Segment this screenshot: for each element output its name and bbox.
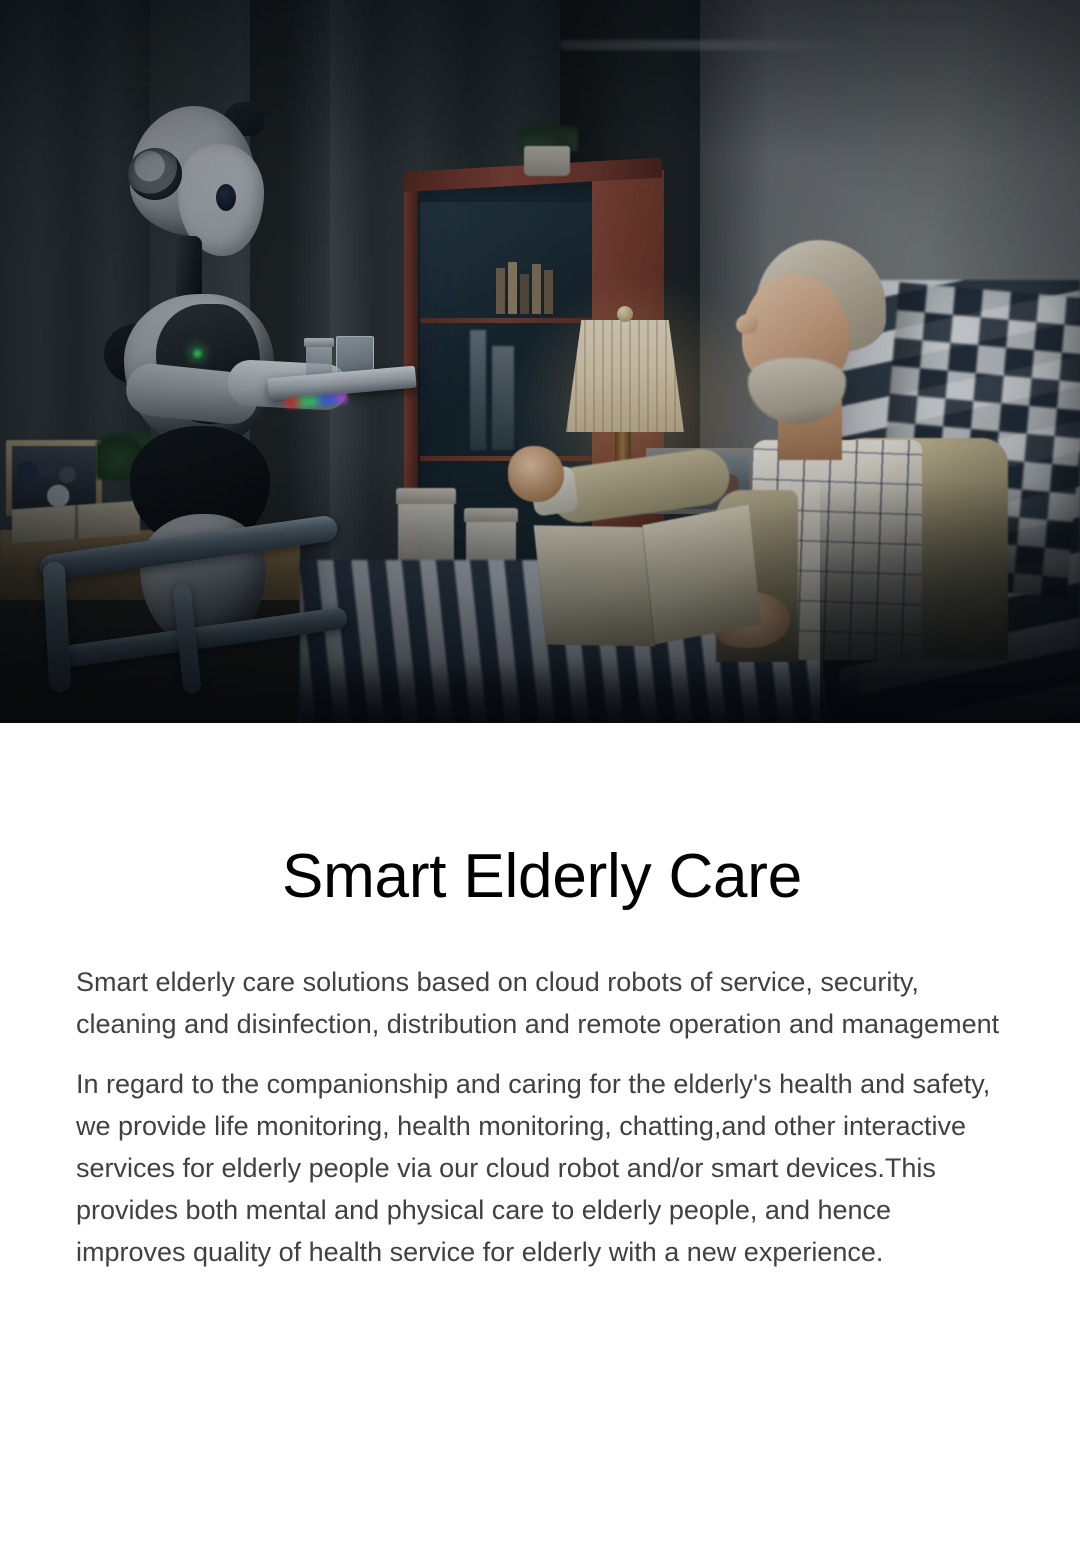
hero-image [0,0,1080,723]
page-title: Smart Elderly Care [76,843,1008,911]
shelf-bottle [492,346,514,450]
book-page-left [534,525,655,646]
shelf-books [496,258,553,314]
book-held-by-man [534,509,765,651]
robot-camera-module [128,148,182,200]
content-section: Smart Elderly Care Smart elderly care so… [0,723,1080,1273]
rail-mid-bar [48,606,348,670]
lamp-shade [566,320,684,432]
bed-safety-rail [40,556,350,723]
man-nose [736,314,758,334]
robot-eye [216,184,236,211]
man-reaching-hand [508,446,564,502]
blanket-shadow [300,660,860,723]
description-paragraph-2: In regard to the companionship and carin… [76,1063,1008,1273]
book-text-lines [122,27,202,98]
hero-scene [0,0,1080,723]
robot-status-led [192,348,203,359]
shelf-divider [420,318,592,323]
ceramic-jar-lid [464,508,518,522]
page-root: Smart Elderly Care Smart elderly care so… [0,0,1080,1561]
description-paragraph-1: Smart elderly care solutions based on cl… [76,961,1008,1045]
book-page-right [642,505,761,645]
lamp-finial [617,306,633,322]
curtain-rod [560,40,860,50]
rail-post [43,562,72,693]
group-photo-image [12,446,96,510]
shelf-divider [420,456,592,461]
duvet-shadow [820,480,1080,723]
pill-bottle-cap [304,338,334,347]
shelf-bottle [470,330,486,450]
potted-plant-pot [524,146,570,176]
